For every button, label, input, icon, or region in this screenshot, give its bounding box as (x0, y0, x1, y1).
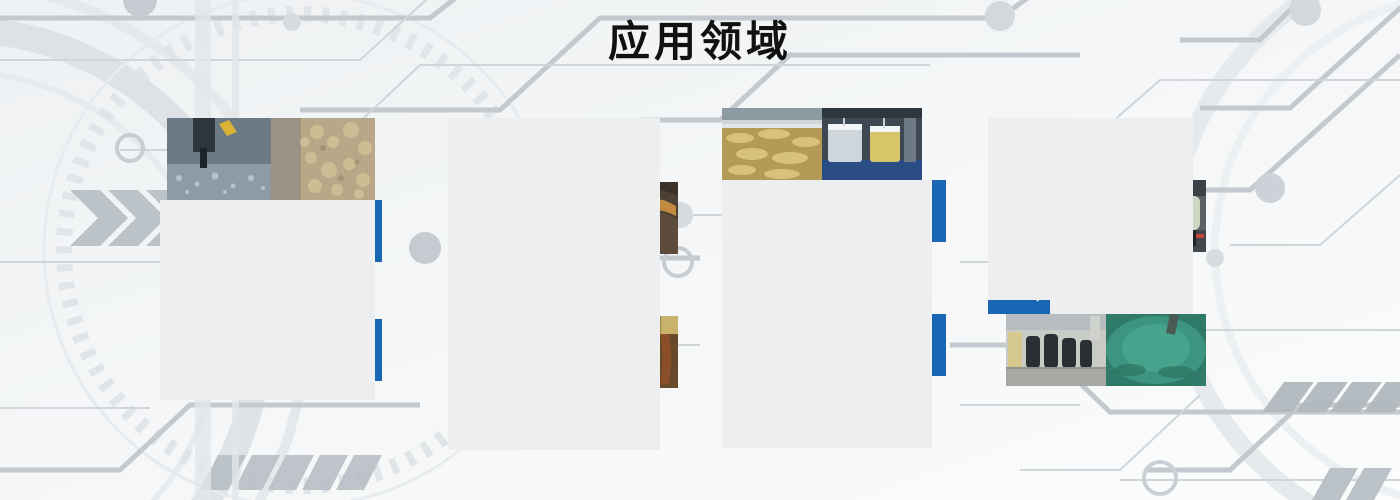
card-photo-chemical (1006, 314, 1206, 386)
page-title: 应用领域 (0, 8, 1400, 69)
photo-thumb (167, 118, 271, 200)
application-fields-board: 清洗含油废水 (0, 0, 1400, 500)
column-4-panel (988, 118, 1193, 300)
column-2: 切削液/研磨废水 (448, 118, 688, 440)
column-1: 清洗含油废水 (160, 118, 390, 383)
column-4: 日用化妆品废水 (988, 118, 1203, 383)
photo-thumb (722, 108, 822, 180)
column-3: 氧化/阳极/电镀废水 (722, 108, 947, 448)
photo-thumb (822, 108, 922, 180)
column-2-panel (448, 118, 660, 440)
card-photo-anodizing (722, 108, 922, 180)
photo-thumb (1006, 314, 1106, 386)
photo-thumb (271, 118, 375, 200)
column-3-panel (722, 180, 932, 448)
card-photo-cleaning-oil (167, 118, 375, 200)
column-1-panel (160, 200, 375, 383)
photo-thumb (1106, 314, 1206, 386)
